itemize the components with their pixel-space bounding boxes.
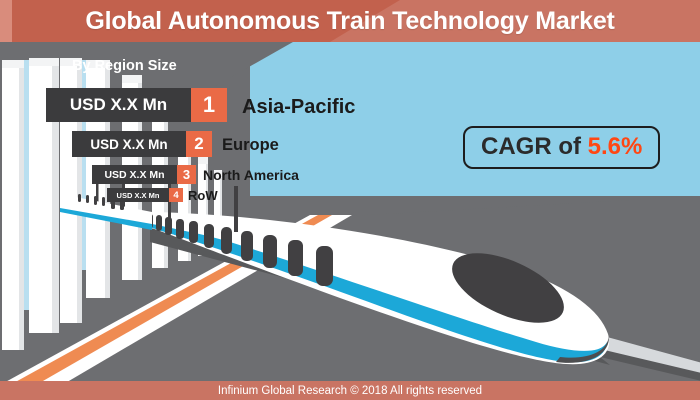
status-badge: 3	[177, 165, 196, 184]
bar-value-box: USD X.X Mn	[92, 165, 177, 184]
poster-header: Global Autonomous Train Technology Marke…	[0, 0, 700, 42]
train-illustration	[0, 150, 700, 380]
region-label: North America	[203, 167, 299, 183]
infographic-poster: Global Autonomous Train Technology Marke…	[0, 0, 700, 400]
table-row[interactable]: USD X.X Mn 4	[107, 188, 183, 202]
cagr-prefix: CAGR of	[481, 133, 588, 160]
table-row[interactable]: USD X.X Mn 2	[72, 131, 212, 157]
bar-value-box: USD X.X Mn	[46, 88, 191, 122]
cagr-callout: CAGR of 5.6%	[463, 126, 660, 169]
status-badge: 1	[191, 88, 227, 122]
bar-value-box: USD X.X Mn	[72, 131, 186, 157]
section-label: By Region Size	[72, 58, 177, 74]
cagr-value: 5.6%	[588, 133, 643, 160]
status-badge: 2	[186, 131, 212, 157]
region-label: Asia-Pacific	[242, 96, 355, 119]
poster-footer: Infinium Global Research © 2018 All righ…	[0, 381, 700, 400]
table-row[interactable]: USD X.X Mn 1	[46, 88, 227, 122]
page-title: Global Autonomous Train Technology Marke…	[0, 0, 700, 42]
status-badge: 4	[169, 188, 183, 202]
region-label: RoW	[188, 188, 218, 203]
bar-value-box: USD X.X Mn	[107, 188, 169, 202]
table-row[interactable]: USD X.X Mn 3	[92, 165, 196, 184]
bullet-train-icon	[0, 150, 700, 380]
region-label: Europe	[222, 136, 279, 155]
copyright-text: Infinium Global Research © 2018 All righ…	[218, 385, 482, 397]
